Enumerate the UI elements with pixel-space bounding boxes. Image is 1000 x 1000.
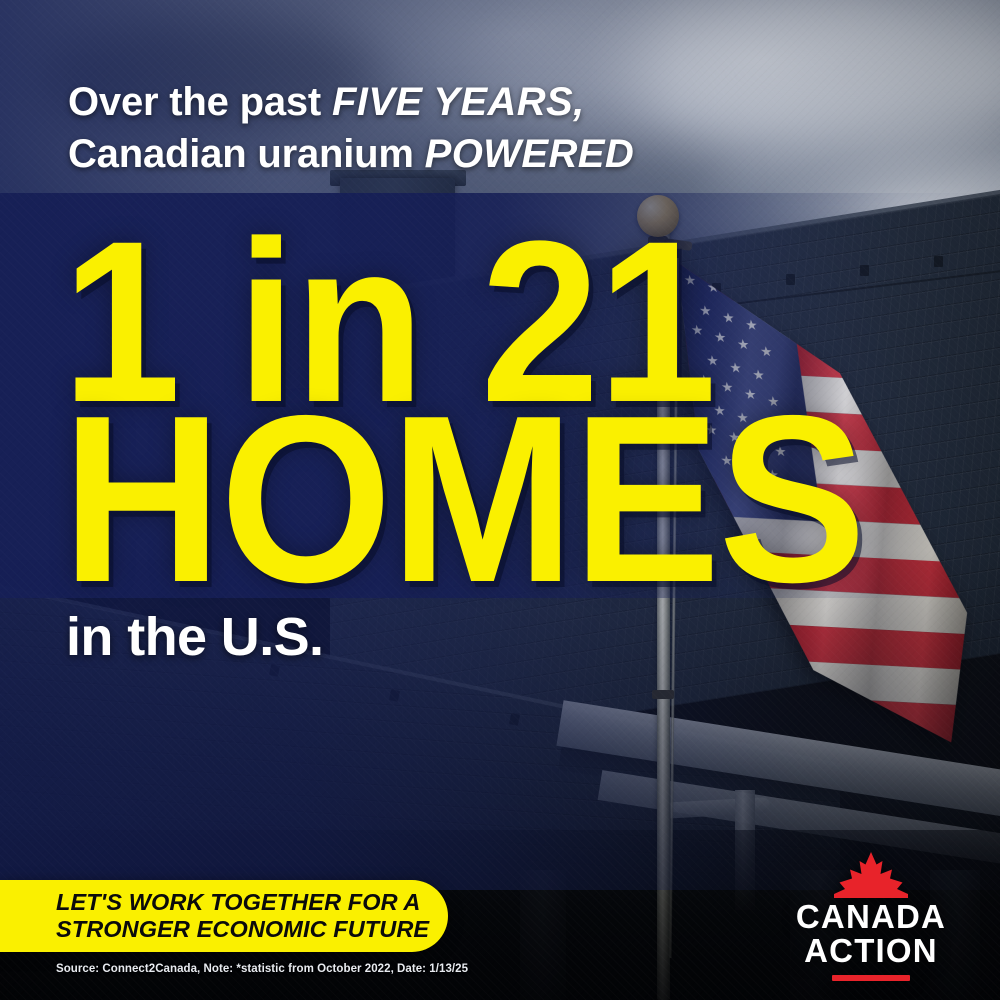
headline-subject: HOMES xyxy=(62,402,864,597)
kicker-line-2: Canadian uranium POWERED xyxy=(68,128,788,180)
call-to-action-banner[interactable]: LET'S WORK TOGETHER FOR A STRONGER ECONO… xyxy=(0,880,448,952)
kicker-line2-emphasis: POWERED xyxy=(425,132,634,176)
maple-leaf-icon xyxy=(834,852,908,898)
cta-line-2: STRONGER ECONOMIC FUTURE xyxy=(56,916,429,943)
cta-line-1: LET'S WORK TOGETHER FOR A xyxy=(56,889,429,916)
source-citation: Source: Connect2Canada, Note: *statistic… xyxy=(56,963,468,975)
headline-subline: in the U.S. xyxy=(66,606,323,668)
infographic-poster: Over the past FIVE YEARS, Canadian urani… xyxy=(0,0,1000,1000)
logo-word-canada: CANADA xyxy=(796,900,946,934)
logo-word-action: ACTION xyxy=(804,934,938,968)
kicker-text: Over the past FIVE YEARS, Canadian urani… xyxy=(68,76,788,180)
kicker-line1-plain: Over the past xyxy=(68,80,332,124)
call-to-action-text: LET'S WORK TOGETHER FOR A STRONGER ECONO… xyxy=(0,889,429,944)
logo-underline-rule xyxy=(832,975,910,981)
canada-action-logo[interactable]: CANADA ACTION xyxy=(780,852,962,981)
kicker-line2-plain: Canadian uranium xyxy=(68,132,425,176)
kicker-line1-emphasis: FIVE YEARS, xyxy=(332,80,585,124)
kicker-line-1: Over the past FIVE YEARS, xyxy=(68,76,788,128)
